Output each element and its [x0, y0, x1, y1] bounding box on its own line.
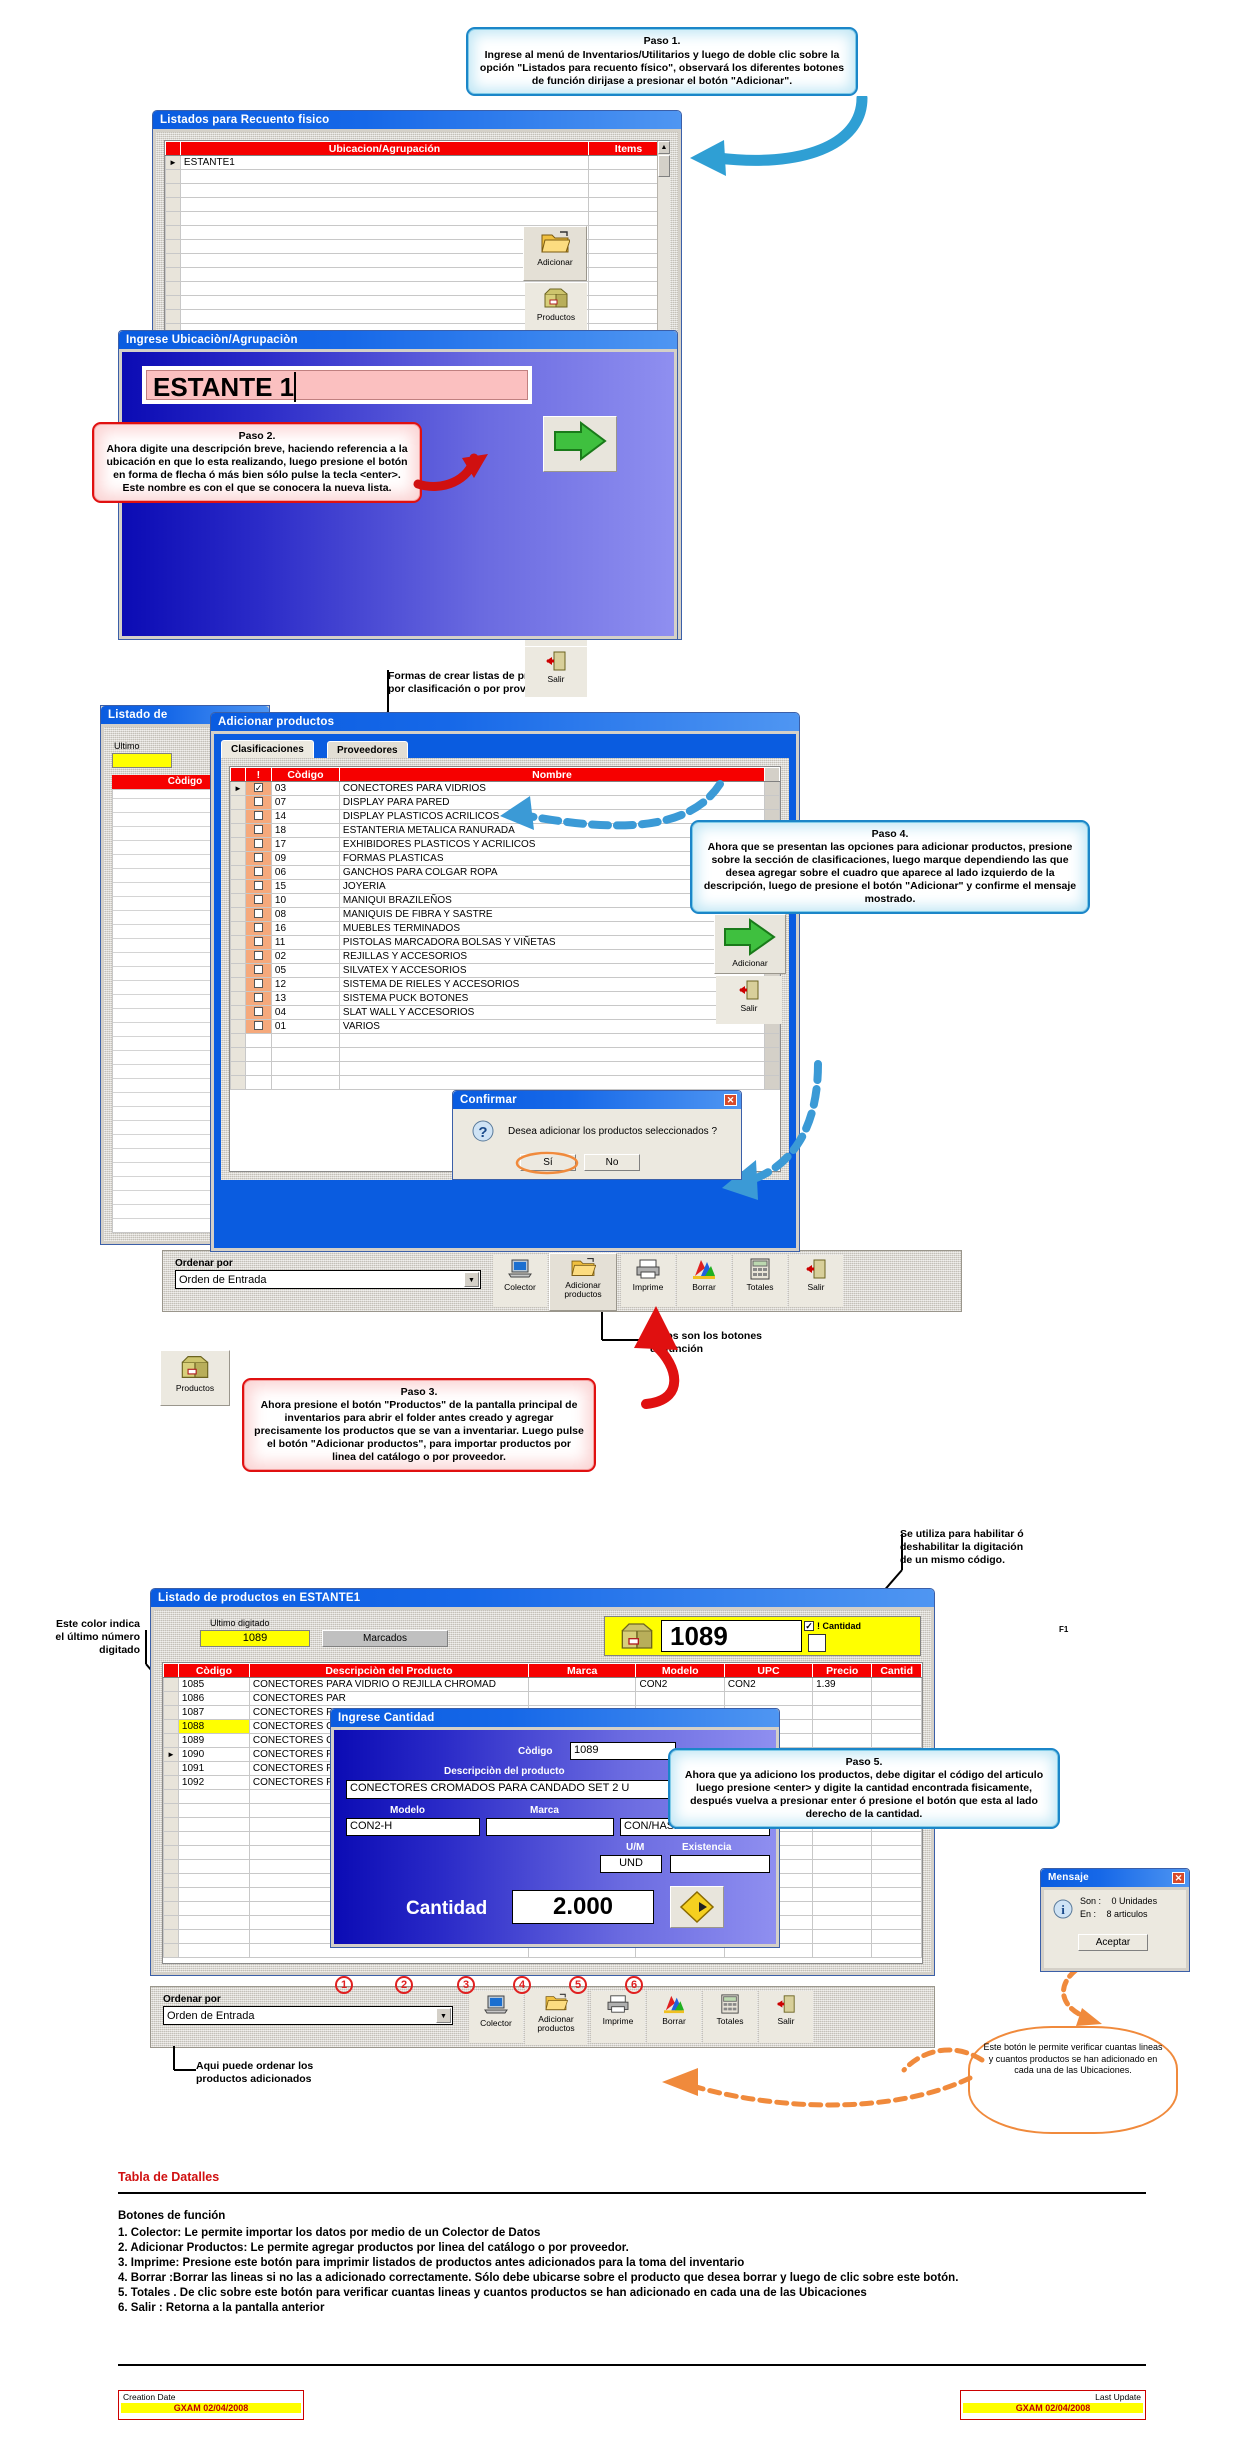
- cell-cantidad: [872, 1832, 922, 1846]
- open-folder-icon: [540, 229, 570, 255]
- cell-codigo: 11: [271, 936, 339, 950]
- list-item: 2. Adicionar Productos: Le permite agreg…: [118, 2241, 1150, 2256]
- row-indicator: [164, 1860, 179, 1874]
- cell-cantidad: [872, 1692, 922, 1706]
- numbered-adicionar-productos-button[interactable]: Adicionar productos: [525, 1989, 587, 2045]
- cell-precio: [813, 1874, 872, 1888]
- ordenar-por-label: Ordenar por: [175, 1257, 233, 1270]
- row-indicator: [164, 1944, 179, 1958]
- row-checkbox-cell[interactable]: [245, 894, 271, 908]
- toolbar-colector-button[interactable]: Colector: [493, 1255, 547, 1307]
- numbered-totales-label: Totales: [704, 2017, 756, 2026]
- scroll-cell: [765, 796, 780, 810]
- tab-clasificaciones[interactable]: Clasificaciones: [221, 740, 314, 758]
- adicionar-button[interactable]: Adicionar: [523, 226, 587, 281]
- cantidad-checkbox[interactable]: ✓: [804, 1621, 814, 1631]
- row-indicator: ►: [164, 1748, 179, 1762]
- cell-nombre: REJILLAS Y ACCESORIOS: [339, 950, 764, 964]
- cell-nombre: VARIOS: [339, 1020, 764, 1034]
- table-row[interactable]: 12SISTEMA DE RIELES Y ACCESORIOS: [231, 978, 780, 992]
- row-checkbox[interactable]: [254, 811, 263, 820]
- divider-bottom: [118, 2364, 1146, 2366]
- row-indicator: [231, 852, 246, 866]
- cell-cantidad: [872, 1902, 922, 1916]
- callout-cloud-totales: Este botón le permite verificar cuantas …: [968, 2026, 1178, 2134]
- cell-marca: [528, 1692, 636, 1706]
- row-checkbox-cell[interactable]: [245, 1048, 271, 1062]
- cell-codigo: 1087: [178, 1706, 249, 1720]
- cell-codigo: [178, 1888, 249, 1902]
- laptop-icon: [507, 1258, 533, 1280]
- table-row[interactable]: [231, 1062, 780, 1076]
- accept-ubicacion-button[interactable]: [543, 416, 617, 472]
- row-checkbox[interactable]: [254, 797, 263, 806]
- cell-codigo: 04: [271, 1006, 339, 1020]
- cell-precio: [813, 1832, 872, 1846]
- row-indicator: [164, 1916, 179, 1930]
- row-checkbox-cell[interactable]: [245, 1062, 271, 1076]
- row-checkbox[interactable]: [254, 1021, 263, 1030]
- table-row[interactable]: 11PISTOLAS MARCADORA BOLSAS Y VIÑETAS: [231, 936, 780, 950]
- cantidad-secondary-box[interactable]: [808, 1634, 826, 1652]
- table-row[interactable]: [166, 254, 669, 268]
- table-row[interactable]: [166, 226, 669, 240]
- row-checkbox[interactable]: [254, 993, 263, 1002]
- row-checkbox[interactable]: [254, 1007, 263, 1016]
- cell-precio: [813, 1706, 872, 1720]
- row-indicator: [166, 240, 181, 254]
- green-right-arrow-icon: [551, 419, 609, 463]
- f1-code-value: 1089: [670, 1621, 728, 1651]
- cell-codigo: [271, 1048, 339, 1062]
- callout-paso-5-body: Ahora que ya adiciono los productos, deb…: [680, 1769, 1048, 1821]
- table-row[interactable]: [231, 1076, 780, 1090]
- cell-precio: [813, 1902, 872, 1916]
- ordenar-por-select-2[interactable]: Orden de Entrada ▼: [163, 2006, 453, 2025]
- cell-codigo: [178, 1874, 249, 1888]
- dialog-confirmar-body: ? Desea adicionar los productos seleccio…: [456, 1112, 738, 1176]
- cell-cantidad: [872, 1678, 922, 1692]
- table-row[interactable]: ► ESTANTE1: [166, 156, 669, 170]
- cantidad-input[interactable]: 2.000: [512, 1890, 654, 1924]
- row-checkbox[interactable]: ✓: [254, 783, 263, 792]
- scroll-thumb[interactable]: [658, 155, 670, 177]
- badge-6-label: 6: [631, 1979, 637, 1991]
- cell-codigo: [178, 1916, 249, 1930]
- cell-codigo: 1086: [178, 1692, 249, 1706]
- productos-button-label: Productos: [526, 313, 586, 322]
- row-checkbox[interactable]: [254, 825, 263, 834]
- table-row[interactable]: 1086CONECTORES PAR: [164, 1692, 922, 1706]
- cell-precio: 1.39: [813, 1678, 872, 1692]
- exit-door-icon: [738, 979, 760, 1001]
- salir-button[interactable]: Salir: [525, 647, 587, 697]
- cell-precio: [813, 1916, 872, 1930]
- cell-codigo: 14: [271, 810, 339, 824]
- cell-codigo: [178, 1818, 249, 1832]
- cell-codigo: [178, 1846, 249, 1860]
- cell-codigo: 06: [271, 866, 339, 880]
- row-indicator: [231, 992, 246, 1006]
- cell-codigo: 1092: [178, 1776, 249, 1790]
- row-checkbox[interactable]: [254, 951, 263, 960]
- row-indicator: [164, 1818, 179, 1832]
- details-subheading: Botones de función: [118, 2210, 225, 2222]
- tab-proveedores-label: Proveedores: [337, 745, 398, 756]
- row-indicator: ►: [166, 156, 181, 170]
- row-checkbox-cell[interactable]: [245, 908, 271, 922]
- row-checkbox[interactable]: [254, 923, 263, 932]
- adicionar-productos-accept-button[interactable]: Adicionar: [714, 914, 786, 974]
- cell-cantidad: [872, 1930, 922, 1944]
- row-checkbox-cell[interactable]: [245, 992, 271, 1006]
- row-indicator: [231, 1020, 246, 1034]
- row-indicator: [231, 1006, 246, 1020]
- row-indicator: [164, 1832, 179, 1846]
- row-indicator: [231, 1076, 246, 1090]
- col-modelo: Modelo: [636, 1664, 724, 1678]
- f1-code-input[interactable]: 1089: [661, 1620, 802, 1652]
- row-checkbox-cell[interactable]: [245, 978, 271, 992]
- cell-codigo: [178, 1804, 249, 1818]
- row-checkbox[interactable]: [254, 881, 263, 890]
- productos-standalone-label: Productos: [161, 1384, 229, 1393]
- cell-nombre: [339, 1034, 764, 1048]
- toolbar-totales-button[interactable]: Totales: [733, 1255, 787, 1307]
- laptop-icon: [483, 1994, 509, 2016]
- cell-cantidad: [872, 1874, 922, 1888]
- productos-button[interactable]: Productos: [525, 283, 587, 335]
- cell-cantidad: [872, 1944, 922, 1958]
- highlight-ellipse-si: [514, 1151, 580, 1175]
- cantidad-existencia-label: Existencia: [682, 1842, 731, 1853]
- numbered-colector-button[interactable]: Colector: [469, 1991, 523, 2043]
- grid-corner: [164, 1664, 179, 1678]
- calculator-icon: [719, 1994, 741, 2014]
- cell-codigo: 13: [271, 992, 339, 1006]
- cantidad-um-label: U/M: [626, 1842, 644, 1853]
- table-row[interactable]: [231, 1048, 780, 1062]
- toolbar-imprime-label: Imprime: [622, 1283, 674, 1292]
- row-checkbox-cell[interactable]: [245, 838, 271, 852]
- mensaje-line2: En : 8 articulos: [1080, 1909, 1148, 1919]
- table-row[interactable]: [166, 212, 669, 226]
- table-row[interactable]: [166, 198, 669, 212]
- footer-creation-label: Creation Date: [119, 2391, 303, 2403]
- row-checkbox-cell[interactable]: [245, 964, 271, 978]
- details-list: 1. Colector: Le permite importar los dat…: [118, 2226, 1150, 2316]
- row-indicator: [166, 254, 181, 268]
- col-precio: Precio: [813, 1664, 872, 1678]
- scroll-cell: [765, 1034, 780, 1048]
- listados-grid-header: Ubicacion/Agrupación Items: [166, 142, 669, 156]
- row-checkbox-cell[interactable]: [245, 880, 271, 894]
- row-indicator: [231, 908, 246, 922]
- mensaje-aceptar-button[interactable]: Aceptar: [1078, 1934, 1148, 1951]
- callout-paso-5: Paso 5. Ahora que ya adiciono los produc…: [668, 1748, 1060, 1829]
- list-item: 5. Totales . De clic sobre este botón pa…: [118, 2286, 1150, 2301]
- list-item: 4. Borrar :Borrar las lineas si no las a…: [118, 2271, 1150, 2286]
- row-indicator: [231, 978, 246, 992]
- numbered-imprime-button[interactable]: Imprime: [591, 1991, 645, 2043]
- cell-precio: [813, 1930, 872, 1944]
- confirmar-no-button[interactable]: No: [584, 1154, 640, 1171]
- row-indicator: [166, 184, 181, 198]
- table-row[interactable]: [166, 282, 669, 296]
- dialog-mensaje-close[interactable]: ✕: [1172, 1872, 1185, 1884]
- cell-precio: [813, 1846, 872, 1860]
- marcados-button[interactable]: Marcados: [322, 1630, 448, 1647]
- box-icon: [180, 1353, 210, 1381]
- dialog-confirmar-title: Confirmar: [453, 1091, 741, 1109]
- row-indicator: [231, 964, 246, 978]
- bg-codigo-header: Còdigo: [168, 776, 202, 787]
- row-checkbox-cell[interactable]: [245, 796, 271, 810]
- callout-paso-3-body: Ahora presione el botón "Productos" de l…: [254, 1399, 584, 1464]
- table-row[interactable]: [231, 1034, 780, 1048]
- row-checkbox-cell[interactable]: [245, 866, 271, 880]
- cell-marca: [528, 1678, 636, 1692]
- cell-codigo: [178, 1902, 249, 1916]
- cell-codigo: [271, 1034, 339, 1048]
- cantidad-accept-button[interactable]: [670, 1886, 724, 1928]
- chevron-down-icon[interactable]: ▼: [436, 2008, 451, 2023]
- box-icon: [543, 286, 569, 310]
- row-checkbox-cell[interactable]: [245, 1076, 271, 1090]
- badge-5-label: 5: [575, 1979, 581, 1991]
- row-indicator: [231, 838, 246, 852]
- cell-cantidad: [872, 1706, 922, 1720]
- cantidad-um-input[interactable]: UND: [600, 1855, 662, 1873]
- bg-ultimo-label: Ultimo: [114, 741, 140, 751]
- mensaje-line1: Son : 0 Unidades: [1080, 1896, 1157, 1906]
- ordenar-por-value-2: Orden de Entrada: [167, 2010, 254, 2022]
- cell-cantidad: [872, 1720, 922, 1734]
- cell-codigo: 08: [271, 908, 339, 922]
- badge-2: 2: [395, 1976, 413, 1994]
- cantidad-codigo-value: 1089: [574, 1744, 598, 1756]
- adicionar-salir-label: Salir: [717, 1004, 781, 1013]
- productos-grid-header: Còdigo Descripciòn del Producto Marca Mo…: [164, 1664, 922, 1678]
- cantidad-input-value: 2.000: [553, 1893, 613, 1920]
- table-row[interactable]: 1085CONECTORES PARA VIDRIO O REJILLA CHR…: [164, 1678, 922, 1692]
- toolbar-borrar-label: Borrar: [678, 1283, 730, 1292]
- row-indicator: [164, 1790, 179, 1804]
- exit-door-icon: [775, 1994, 797, 2014]
- row-indicator: [164, 1846, 179, 1860]
- cell-ubicacion: [180, 170, 588, 184]
- row-checkbox-cell[interactable]: [245, 950, 271, 964]
- callout-paso-4-body: Ahora que se presentan las opciones para…: [702, 841, 1078, 906]
- yellow-diamond-arrow-icon: [679, 1890, 715, 1924]
- cantidad-modelo-input[interactable]: CON2-H: [346, 1818, 480, 1836]
- table-row[interactable]: 02REJILLAS Y ACCESORIOS: [231, 950, 780, 964]
- cell-nombre: SLAT WALL Y ACCESORIOS: [339, 1006, 764, 1020]
- dialog-confirmar-close[interactable]: ✕: [724, 1094, 737, 1106]
- svg-text:i: i: [1061, 1902, 1065, 1917]
- table-row[interactable]: [166, 268, 669, 282]
- row-checkbox[interactable]: [254, 979, 263, 988]
- row-checkbox-cell[interactable]: [245, 852, 271, 866]
- ubicacion-input[interactable]: ESTANTE 1: [146, 370, 528, 400]
- row-indicator: [164, 1888, 179, 1902]
- confirmar-no-label: No: [606, 1157, 619, 1168]
- leader-line-ordenar: [150, 2046, 200, 2082]
- chevron-down-icon[interactable]: ▼: [464, 1272, 479, 1287]
- cell-codigo: 02: [271, 950, 339, 964]
- row-indicator: [166, 212, 181, 226]
- row-checkbox-cell[interactable]: [245, 936, 271, 950]
- numbered-borrar-label: Borrar: [648, 2017, 700, 2026]
- cell-upc: [724, 1692, 812, 1706]
- dialog-confirmar: Confirmar ✕ ? Desea adicionar los produc…: [452, 1090, 742, 1180]
- row-checkbox[interactable]: [254, 965, 263, 974]
- window-listados-title: Listados para Recuento fisico: [153, 111, 681, 129]
- dialog-cantidad-title: Ingrese Cantidad: [331, 1709, 779, 1727]
- row-checkbox-cell[interactable]: [245, 824, 271, 838]
- col-marca: Marca: [528, 1664, 636, 1678]
- row-checkbox-cell[interactable]: ✓: [245, 782, 271, 796]
- table-row[interactable]: [166, 184, 669, 198]
- table-row[interactable]: [166, 170, 669, 184]
- row-checkbox-cell[interactable]: [245, 1006, 271, 1020]
- numbered-colector-label: Colector: [470, 2019, 522, 2028]
- table-row[interactable]: 16MUEBLES TERMINADOS: [231, 922, 780, 936]
- table-row[interactable]: 05SILVATEX Y ACCESORIOS: [231, 964, 780, 978]
- row-indicator: [231, 1048, 246, 1062]
- divider-top: [118, 2192, 1146, 2194]
- cell-codigo: 18: [271, 824, 339, 838]
- cell-modelo: CON2: [636, 1678, 724, 1692]
- cell-codigo: [271, 1062, 339, 1076]
- row-indicator: [164, 1804, 179, 1818]
- toolbar-adicionar-productos-label: Adicionar productos: [550, 1281, 616, 1299]
- arrow-callout2-to-accept: [412, 430, 502, 500]
- table-row[interactable]: [166, 296, 669, 310]
- cantidad-codigo-input[interactable]: 1089: [570, 1742, 676, 1760]
- adicionar-productos-salir-button[interactable]: Salir: [716, 976, 782, 1024]
- badge-4: 4: [513, 1976, 531, 1994]
- badge-2-label: 2: [401, 1979, 407, 1991]
- productos-button-standalone[interactable]: Productos: [160, 1350, 230, 1406]
- note-habilitar-cantidad: Se utiliza para habilitar ó deshabilitar…: [900, 1528, 1130, 1567]
- row-checkbox[interactable]: [254, 839, 263, 848]
- adicionar-button-label: Adicionar: [524, 258, 586, 267]
- box-icon: [619, 1620, 655, 1652]
- dialog-mensaje: Mensaje ✕ i Son : 0 Unidades En : 8 arti…: [1040, 1868, 1190, 1972]
- list-item: 6. Salir : Retorna a la pantalla anterio…: [118, 2301, 1150, 2316]
- table-row[interactable]: 01VARIOS: [231, 1020, 780, 1034]
- cell-precio: [813, 1734, 872, 1748]
- close-icon: ✕: [727, 1095, 735, 1105]
- tabla-datalles-heading: Tabla de Datalles: [118, 2170, 219, 2184]
- cantidad-existencia-input[interactable]: [670, 1855, 770, 1873]
- cantidad-checkbox-group[interactable]: ✓ ! Cantidad: [804, 1621, 910, 1652]
- cantidad-marca-input[interactable]: [486, 1818, 614, 1836]
- table-row[interactable]: 13SISTEMA PUCK BOTONES: [231, 992, 780, 1006]
- cell-cantidad: [872, 1860, 922, 1874]
- mensaje-aceptar-label: Aceptar: [1096, 1937, 1130, 1948]
- row-checkbox-cell[interactable]: [245, 810, 271, 824]
- row-indicator: [231, 810, 246, 824]
- colors-icon: [662, 1994, 686, 2014]
- numbered-imprime-label: Imprime: [592, 2017, 644, 2026]
- cell-modelo: [636, 1692, 724, 1706]
- cell-precio: [813, 1860, 872, 1874]
- ultimo-digitado-value: 1089: [243, 1632, 267, 1644]
- callout-paso-3: Paso 3. Ahora presione el botón "Product…: [242, 1378, 596, 1472]
- grid-corner: [231, 768, 246, 782]
- col-ubicacion: Ubicacion/Agrupación: [180, 142, 588, 156]
- cantidad-check-label: ! Cantidad: [817, 1621, 861, 1631]
- grid-corner: [166, 142, 181, 156]
- row-checkbox-cell[interactable]: [245, 1034, 271, 1048]
- callout-paso-2: Paso 2. Ahora digite una descripción bre…: [92, 422, 422, 503]
- f1-code-panel: F1 1089 ✓ ! Cantidad: [604, 1616, 921, 1656]
- cantidad-label: Cantidad: [406, 1898, 487, 1920]
- row-checkbox[interactable]: [254, 853, 263, 862]
- callout-paso-1-title: Paso 1.: [478, 35, 846, 48]
- ordenar-por-select[interactable]: Orden de Entrada ▼: [175, 1270, 481, 1289]
- svg-text:?: ?: [478, 1124, 487, 1141]
- grid-scroll-corner: [765, 768, 780, 782]
- row-checkbox[interactable]: [254, 895, 263, 904]
- row-indicator: [164, 1720, 179, 1734]
- mensaje-line1-label: Son :: [1080, 1896, 1101, 1906]
- cantidad-desc-label: Descripciòn del producto: [444, 1766, 565, 1777]
- cell-precio: [813, 1944, 872, 1958]
- col-codigo: Còdigo: [178, 1664, 249, 1678]
- row-checkbox[interactable]: [254, 937, 263, 946]
- colors-icon: [691, 1258, 717, 1280]
- row-indicator: [166, 282, 181, 296]
- cantidad-modelo-label: Modelo: [390, 1805, 425, 1816]
- cell-codigo: 17: [271, 838, 339, 852]
- adicionar-accept-label: Adicionar: [715, 959, 785, 968]
- row-indicator: [166, 226, 181, 240]
- row-indicator: [231, 824, 246, 838]
- table-row[interactable]: [166, 240, 669, 254]
- cantidad-codigo-label: Còdigo: [518, 1746, 552, 1757]
- row-indicator: [164, 1776, 179, 1790]
- cell-nombre: SISTEMA DE RIELES Y ACCESORIOS: [339, 978, 764, 992]
- f1-label: F1: [1059, 1625, 1068, 1634]
- table-row[interactable]: [166, 310, 669, 324]
- cantidad-check-row[interactable]: ✓ ! Cantidad: [804, 1621, 910, 1631]
- cell-nombre: PISTOLAS MARCADORA BOLSAS Y VIÑETAS: [339, 936, 764, 950]
- toolbar-salir-button[interactable]: Salir: [789, 1255, 843, 1307]
- row-indicator: [231, 894, 246, 908]
- cell-precio: [813, 1888, 872, 1902]
- row-checkbox-cell[interactable]: [245, 1020, 271, 1034]
- row-checkbox[interactable]: [254, 909, 263, 918]
- callout-paso-4-title: Paso 4.: [702, 828, 1078, 841]
- scroll-up-icon[interactable]: ▲: [658, 141, 670, 154]
- bg-ultimo-field: [112, 753, 172, 768]
- col-codigo: Còdigo: [271, 768, 339, 782]
- mensaje-line2-label: En :: [1080, 1909, 1096, 1919]
- numbered-adicionar-productos-label: Adicionar productos: [526, 2015, 586, 2033]
- row-checkbox[interactable]: [254, 867, 263, 876]
- table-row[interactable]: 04SLAT WALL Y ACCESORIOS: [231, 1006, 780, 1020]
- cell-nombre: SILVATEX Y ACCESORIOS: [339, 964, 764, 978]
- row-indicator: ►: [231, 782, 246, 796]
- row-indicator: [231, 936, 246, 950]
- note-formas-crear-listas: Formas de crear listas de productos por …: [388, 670, 638, 696]
- tab-proveedores[interactable]: Proveedores: [327, 741, 408, 759]
- row-checkbox-cell[interactable]: [245, 922, 271, 936]
- row-indicator: [231, 796, 246, 810]
